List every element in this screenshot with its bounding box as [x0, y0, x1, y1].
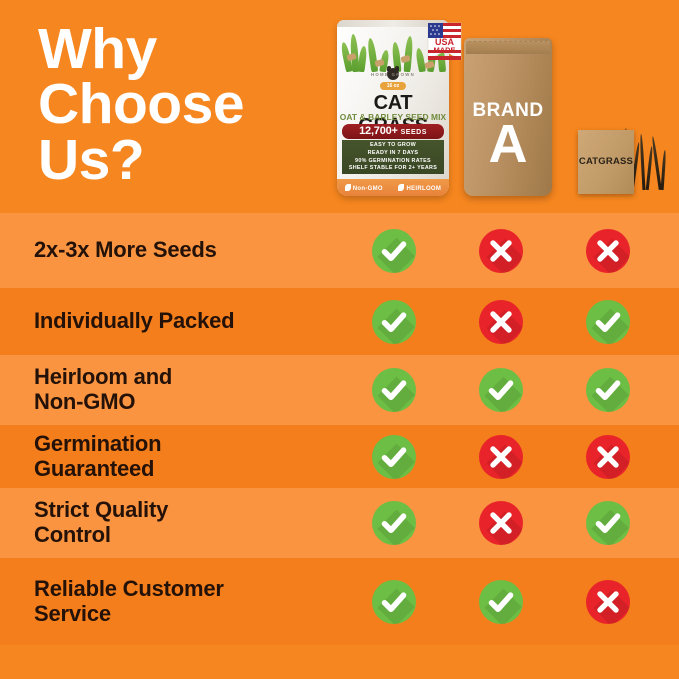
- feature-label: Individually Packed: [0, 309, 340, 334]
- check-glyph: [479, 368, 523, 412]
- feature-label: Strict Quality Control: [0, 498, 340, 548]
- check-icon: [479, 580, 523, 624]
- check-icon: [372, 368, 416, 412]
- check-icon: [372, 229, 416, 273]
- check-icon: [372, 435, 416, 479]
- bottom-spacer: [0, 645, 679, 679]
- comparison-cell-brand_a: [447, 300, 554, 344]
- product-image-brand-a-pouch: BRAND A: [464, 38, 552, 196]
- feature-label: 2x-3x More Seeds: [0, 238, 340, 263]
- svg-text:MADE: MADE: [433, 46, 455, 55]
- comparison-row: Strict Quality Control: [0, 488, 679, 558]
- check-icon: [479, 368, 523, 412]
- pouch-brandmark: HOME GROWN: [337, 72, 449, 77]
- check-glyph: [479, 580, 523, 624]
- comparison-cell-catgrass_envelope: [554, 501, 661, 545]
- check-glyph: [372, 580, 416, 624]
- comparison-cell-ours: [340, 435, 447, 479]
- comparison-cell-brand_a: [447, 368, 554, 412]
- comparison-cell-brand_a: [447, 580, 554, 624]
- cross-icon: [479, 300, 523, 344]
- check-glyph: [372, 368, 416, 412]
- check-glyph: [586, 368, 630, 412]
- feature-label: Heirloom and Non-GMO: [0, 365, 340, 415]
- cross-glyph: [479, 435, 523, 479]
- usa-made-flag-icon: USA MADE: [427, 22, 462, 68]
- comparison-cell-catgrass_envelope: [554, 580, 661, 624]
- comparison-row: Germination Guaranteed: [0, 425, 679, 488]
- check-icon: [586, 501, 630, 545]
- comparison-row: 2x-3x More Seeds: [0, 213, 679, 288]
- comparison-cell-catgrass_envelope: [554, 300, 661, 344]
- leaf-icon: [398, 184, 404, 191]
- pouch-claim-1: EASY TO GROW: [342, 142, 444, 150]
- check-icon: [586, 300, 630, 344]
- comparison-cell-ours: [340, 300, 447, 344]
- pouch-claim-2: READY IN 7 DAYS: [342, 150, 444, 158]
- cross-glyph: [586, 229, 630, 273]
- mark-cells: [340, 368, 679, 412]
- cross-icon: [586, 229, 630, 273]
- pouch-product-subtitle: OAT & BARLEY SEED MIX: [337, 112, 449, 122]
- cross-icon: [479, 435, 523, 479]
- cross-icon: [586, 435, 630, 479]
- check-icon: [586, 368, 630, 412]
- cross-glyph: [479, 501, 523, 545]
- check-glyph: [586, 501, 630, 545]
- check-glyph: [586, 300, 630, 344]
- pouch-claims-band: EASY TO GROW READY IN 7 DAYS 90% GERMINA…: [342, 140, 444, 174]
- pouch-seed-word: SEEDS: [401, 129, 427, 136]
- mark-cells: [340, 501, 679, 545]
- comparison-cell-brand_a: [447, 229, 554, 273]
- cross-glyph: [586, 580, 630, 624]
- pouch-seed-count: 12,700+: [359, 125, 398, 137]
- check-icon: [372, 580, 416, 624]
- mark-cells: [340, 580, 679, 624]
- comparison-row: Reliable Customer Service: [0, 558, 679, 645]
- comparison-cell-ours: [340, 229, 447, 273]
- cross-icon: [479, 229, 523, 273]
- page-title: Why Choose Us?: [38, 22, 338, 188]
- check-glyph: [372, 300, 416, 344]
- comparison-cell-ours: [340, 501, 447, 545]
- comparison-cell-brand_a: [447, 435, 554, 479]
- cross-glyph: [586, 435, 630, 479]
- product-image-catgrass-envelope: CATGRASS: [578, 124, 674, 196]
- comparison-row: Heirloom and Non-GMO: [0, 355, 679, 425]
- comparison-table: 2x-3x More SeedsIndividually PackedHeirl…: [0, 213, 679, 645]
- pouch-claim-3: 90% GERMINATION RATES: [342, 158, 444, 166]
- mark-cells: [340, 435, 679, 479]
- comparison-cell-ours: [340, 368, 447, 412]
- pouch-badge-row: Non-GMO HEIRLOOM: [337, 179, 449, 196]
- non-gmo-badge: Non-GMO: [345, 184, 383, 192]
- check-glyph: [372, 501, 416, 545]
- seed-envelope: CATGRASS: [578, 130, 634, 194]
- check-glyph: [372, 229, 416, 273]
- header-banner: Why Choose Us? HOME GROWN 16 oz CAT GRAS…: [0, 0, 679, 213]
- brand-a-seal: [466, 41, 550, 54]
- mark-cells: [340, 229, 679, 273]
- comparison-cell-ours: [340, 580, 447, 624]
- cross-glyph: [479, 300, 523, 344]
- leaf-icon: [345, 184, 351, 191]
- feature-label: Germination Guaranteed: [0, 432, 340, 482]
- feature-label: Reliable Customer Service: [0, 577, 340, 627]
- cross-glyph: [479, 229, 523, 273]
- pouch-claim-4: SHELF STABLE FOR 2+ YEARS: [342, 165, 444, 173]
- pouch-seed-count-band: 12,700+ SEEDS: [342, 124, 444, 139]
- comparison-cell-catgrass_envelope: [554, 368, 661, 412]
- brand-a-letter: A: [464, 117, 552, 171]
- check-icon: [372, 501, 416, 545]
- heirloom-badge: HEIRLOOM: [398, 184, 441, 192]
- comparison-cell-brand_a: [447, 501, 554, 545]
- check-icon: [372, 300, 416, 344]
- pouch-size-badge: 16 oz: [380, 82, 406, 90]
- cross-icon: [586, 580, 630, 624]
- comparison-cell-catgrass_envelope: [554, 229, 661, 273]
- comparison-cell-catgrass_envelope: [554, 435, 661, 479]
- check-glyph: [372, 435, 416, 479]
- comparison-row: Individually Packed: [0, 288, 679, 355]
- cross-icon: [479, 501, 523, 545]
- envelope-label: CATGRASS: [578, 156, 634, 167]
- mark-cells: [340, 300, 679, 344]
